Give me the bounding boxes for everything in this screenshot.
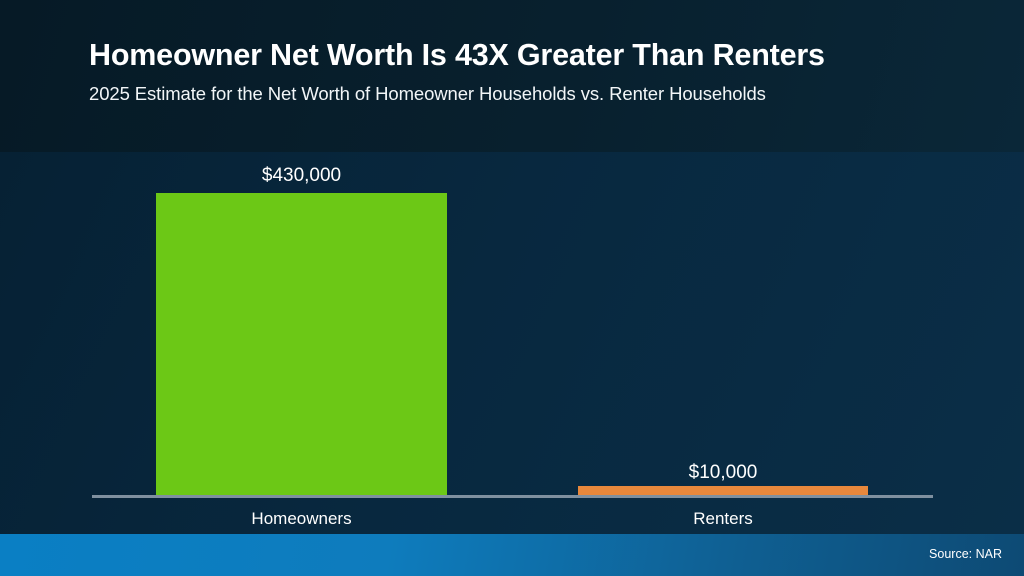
x-axis-line xyxy=(92,495,933,498)
slide-canvas: Homeowner Net Worth Is 43X Greater Than … xyxy=(0,0,1024,576)
bar-homeowners xyxy=(156,193,447,495)
page-subtitle: 2025 Estimate for the Net Worth of Homeo… xyxy=(89,83,766,105)
category-label-renters: Renters xyxy=(578,509,868,529)
footer-band: Source: NAR xyxy=(0,534,1024,576)
source-attribution: Source: NAR xyxy=(929,547,1002,561)
header-band: Homeowner Net Worth Is 43X Greater Than … xyxy=(0,0,1024,152)
bar-renters xyxy=(578,486,868,495)
chart-plot-area: $430,000 $10,000 Homeowners Renters xyxy=(0,152,1024,534)
category-label-homeowners: Homeowners xyxy=(156,509,447,529)
bar-group xyxy=(92,152,933,495)
page-title: Homeowner Net Worth Is 43X Greater Than … xyxy=(89,38,825,73)
